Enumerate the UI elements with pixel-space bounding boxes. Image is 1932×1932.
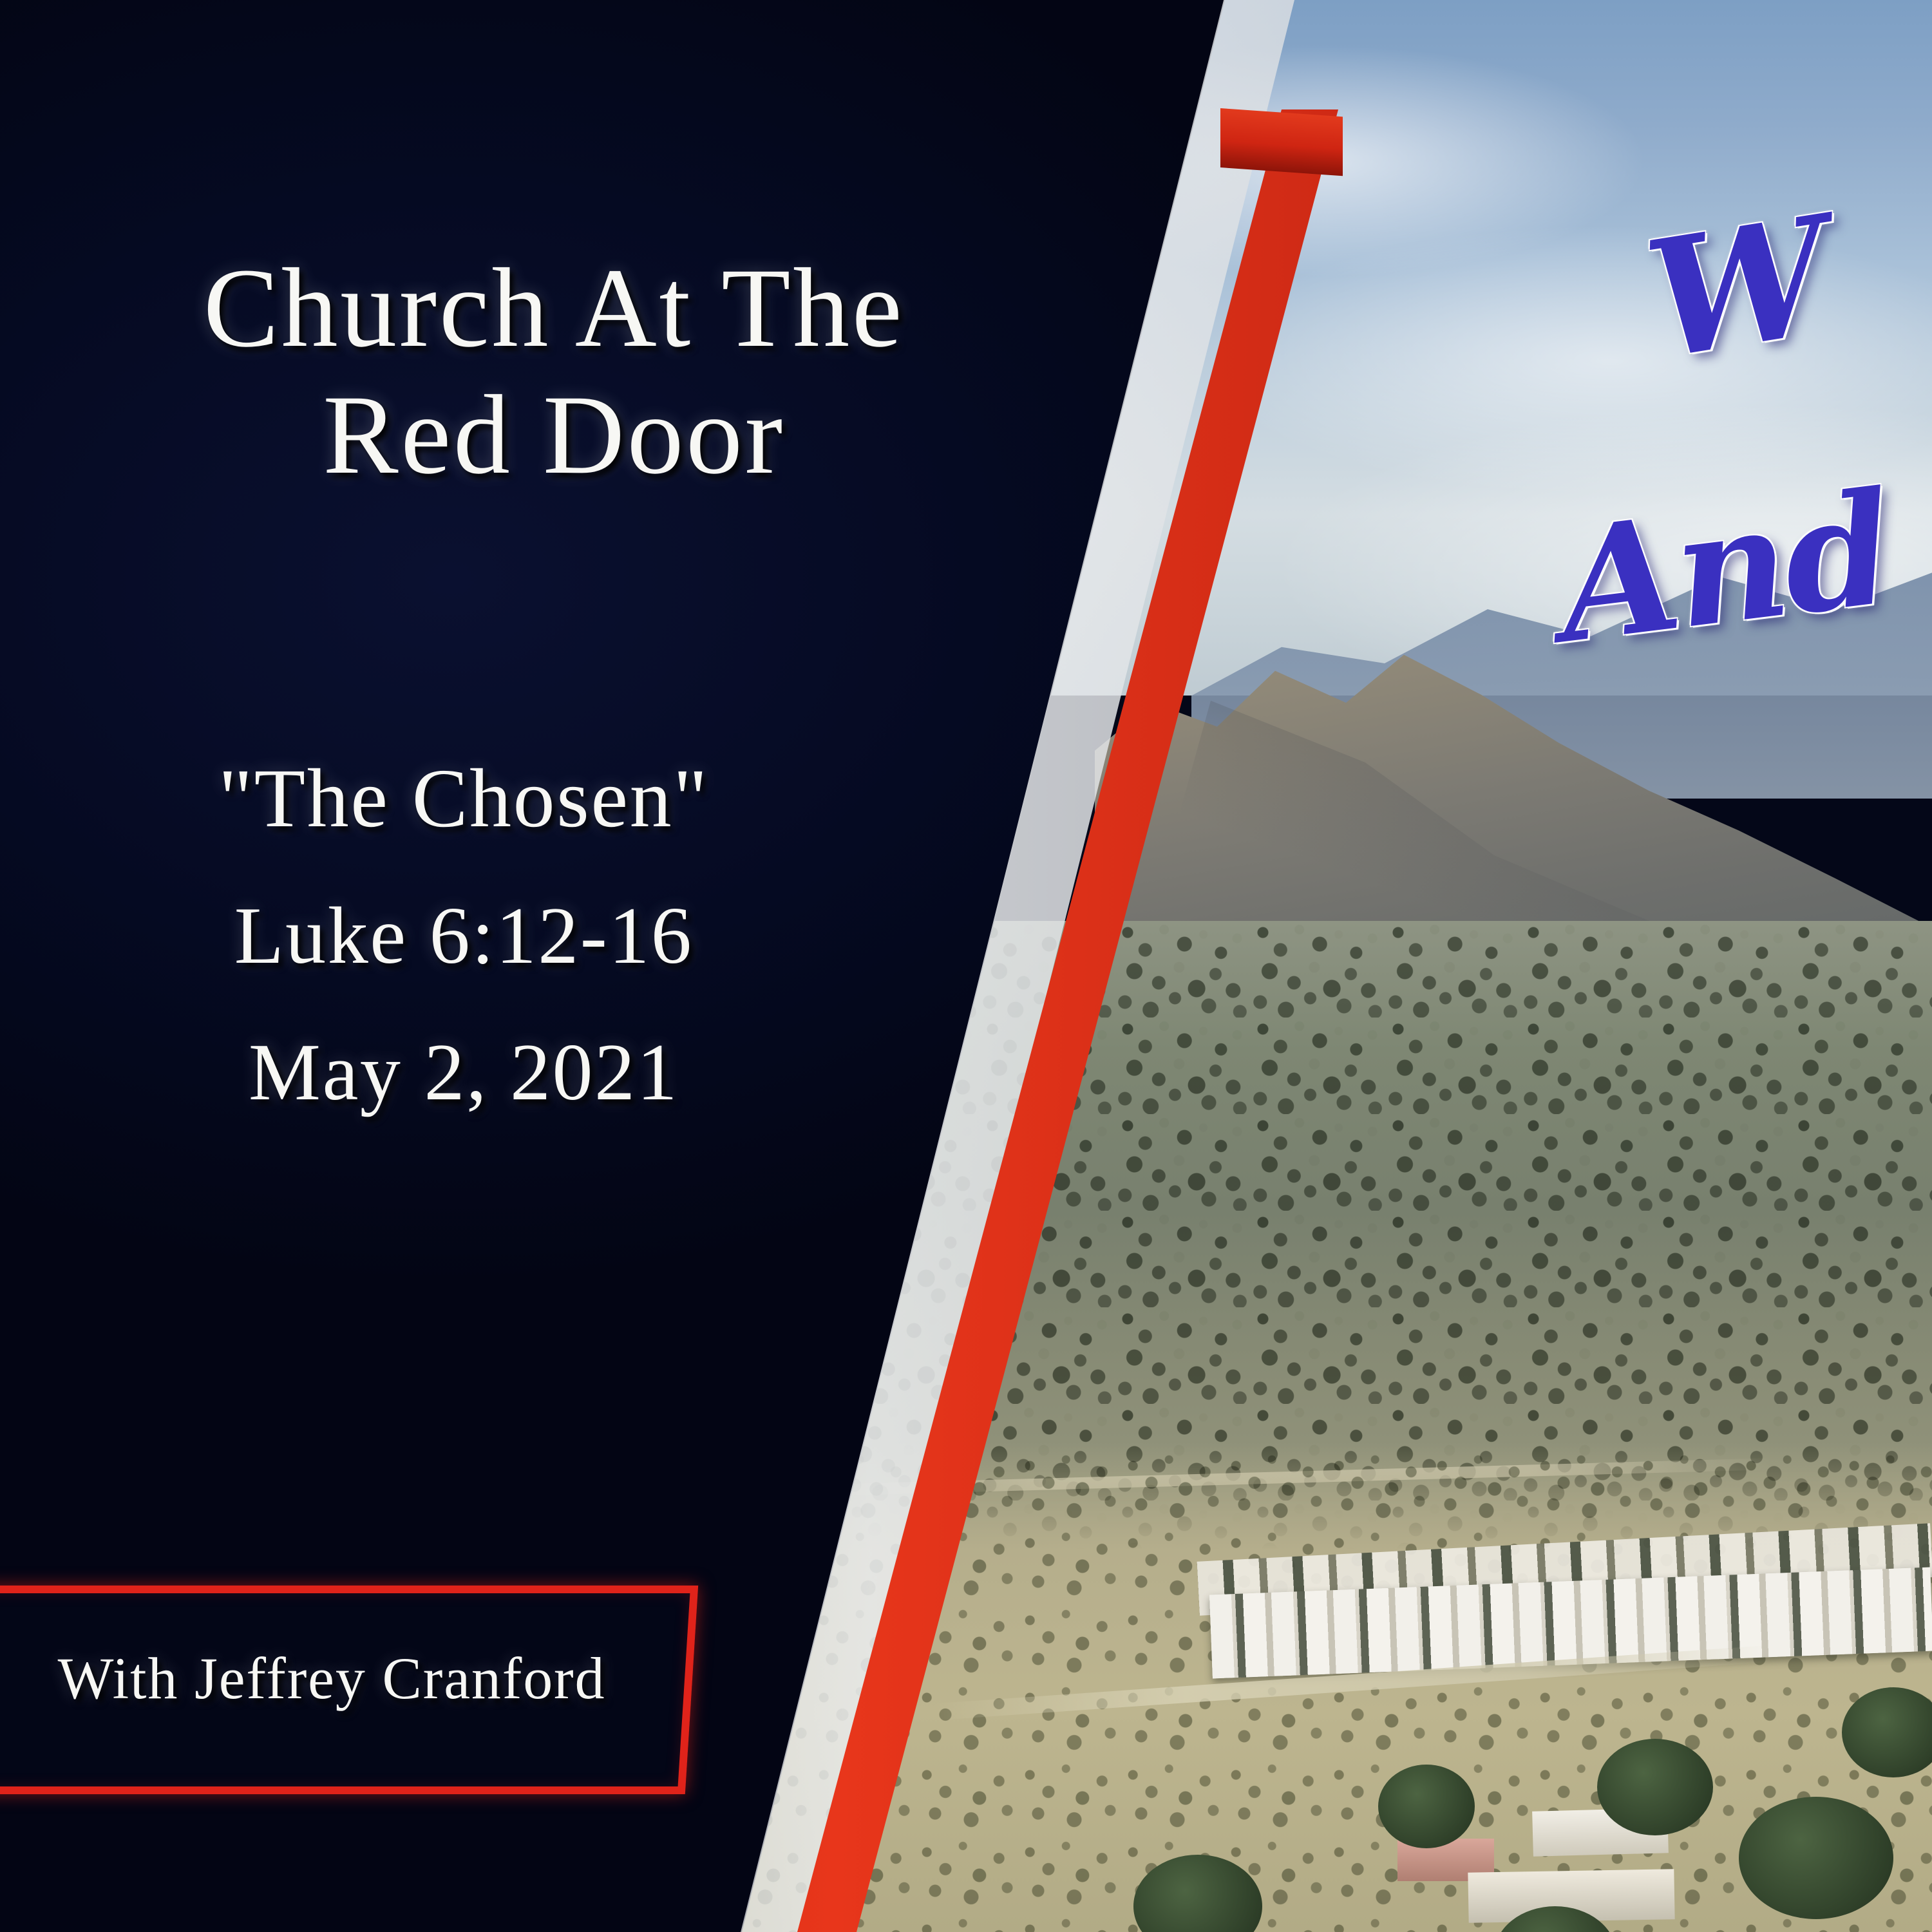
church-name-line-1: Church At The xyxy=(52,245,1056,372)
sermon-details: "The Chosen" Luke 6:12-16 May 2, 2021 xyxy=(39,757,889,1113)
sermon-title-card: Church At The Red Door "The Chosen" Luke… xyxy=(0,0,1932,1932)
church-name-line-2: Red Door xyxy=(52,372,1056,498)
speaker-name: With Jeffrey Cranford xyxy=(6,1649,657,1708)
tree-clump xyxy=(1378,1765,1475,1848)
tree-clump xyxy=(1739,1797,1893,1919)
tree-clump xyxy=(1597,1739,1713,1835)
script-overlay-line-1: W xyxy=(1635,180,1840,395)
scripture-reference: Luke 6:12-16 xyxy=(39,896,889,977)
sermon-date: May 2, 2021 xyxy=(39,1032,889,1113)
page-title: Church At The Red Door xyxy=(52,245,1056,498)
sermon-title: "The Chosen" xyxy=(39,757,889,840)
